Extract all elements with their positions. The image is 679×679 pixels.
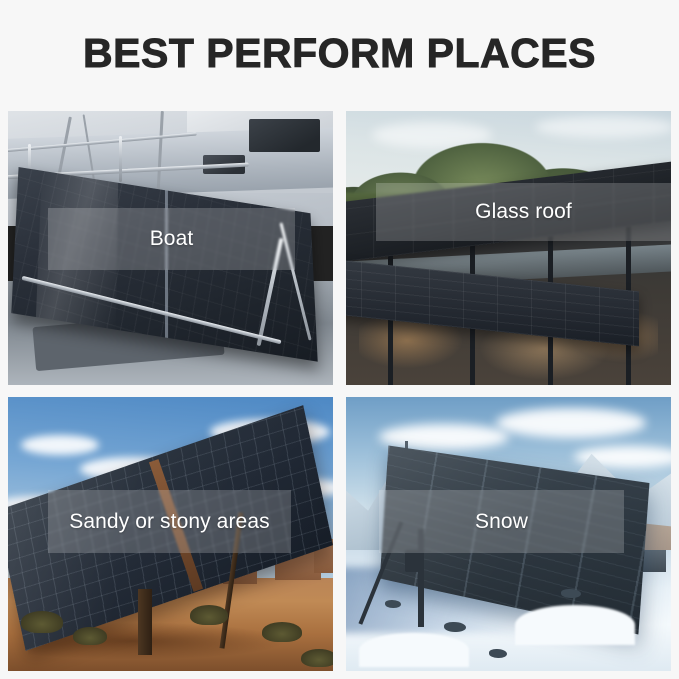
boat-photo xyxy=(8,111,333,385)
place-card-snow[interactable]: Snow xyxy=(346,397,671,671)
snow-drift-2 xyxy=(359,633,469,667)
snow-rock-2 xyxy=(489,649,507,658)
desert-array-pedestal xyxy=(138,589,152,655)
snow-drift-1 xyxy=(515,605,635,645)
places-grid: Boat xyxy=(8,111,671,671)
snow-cloud-2 xyxy=(496,408,646,438)
snow-rock-1 xyxy=(444,622,466,632)
boat-cabin-window xyxy=(249,119,321,152)
product-feature-image: BEST PERFORM PLACES xyxy=(0,0,679,679)
desert-bush-1 xyxy=(21,611,63,633)
glass-roof-photo xyxy=(346,111,671,385)
snow-photo xyxy=(346,397,671,671)
boat-panel-glare xyxy=(35,170,117,329)
place-card-sandy-stony[interactable]: Sandy or stony areas xyxy=(8,397,333,671)
page-title: BEST PERFORM PLACES xyxy=(0,28,679,78)
sandy-stony-photo xyxy=(8,397,333,671)
desert-bush-4 xyxy=(262,622,302,642)
snow-rock-3 xyxy=(561,589,581,598)
snow-rock-4 xyxy=(385,600,401,608)
place-card-boat[interactable]: Boat xyxy=(8,111,333,385)
boat-rail-post-2 xyxy=(119,136,122,183)
snow-array-leg-front xyxy=(418,529,424,628)
desert-bush-3 xyxy=(190,605,228,625)
place-card-glass-roof[interactable]: Glass roof xyxy=(346,111,671,385)
desert-bush-2 xyxy=(73,627,107,645)
desert-bush-5 xyxy=(301,649,334,667)
snow-array-controller-box xyxy=(405,550,419,572)
